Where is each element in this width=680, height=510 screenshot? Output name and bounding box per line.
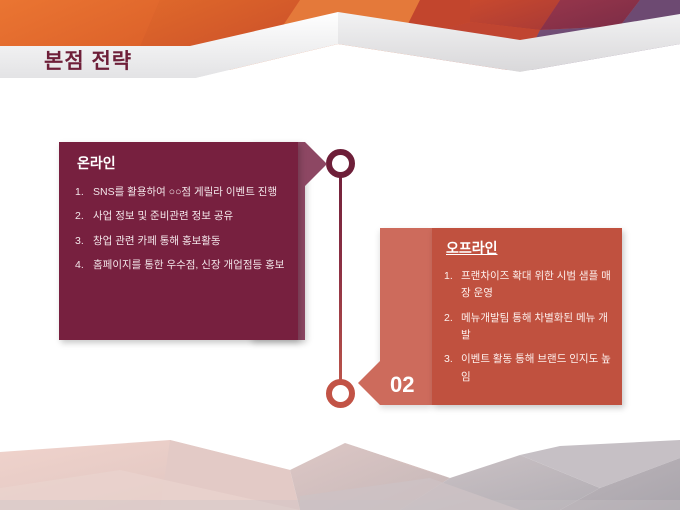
list-item: 4. 홈페이지를 통한 우수점, 신장 개업점등 홍보 (75, 257, 287, 274)
list-item: 1. 프랜차이즈 확대 위한 시범 샘플 매장 운영 (444, 268, 612, 303)
timeline-node-bottom-circle-icon (326, 379, 355, 408)
list-item-text: SNS를 활용하여 ○○점 게릴라 이벤트 진행 (93, 186, 277, 198)
list-item-text: 이벤트 활동 통해 브랜드 인지도 높임 (461, 353, 611, 382)
card-offline-heading: 오프라인 (446, 238, 498, 258)
card-offline-arrow-icon (358, 361, 380, 405)
list-item: 2. 사업 정보 및 준비관련 정보 공유 (75, 208, 287, 225)
list-item-number: 1. (75, 184, 84, 201)
list-item-number: 1. (444, 268, 453, 285)
card-online-list: 1. SNS를 활용하여 ○○점 게릴라 이벤트 진행 2. 사업 정보 및 준… (75, 184, 287, 281)
card-online-arrow-icon (305, 142, 327, 186)
timeline-node-top-circle-icon (326, 149, 355, 178)
list-item-text: 메뉴개발팀 통해 차별화된 메뉴 개발 (461, 312, 608, 341)
list-item-number: 3. (75, 233, 84, 250)
list-item-text: 프랜차이즈 확대 위한 시범 샘플 매장 운영 (461, 270, 611, 299)
timeline-connector-line (339, 160, 342, 396)
card-offline-list: 1. 프랜차이즈 확대 위한 시범 샘플 매장 운영 2. 메뉴개발팀 통해 차… (444, 268, 612, 393)
list-item: 2. 메뉴개발팀 통해 차별화된 메뉴 개발 (444, 310, 612, 345)
card-offline[interactable]: 오프라인 1. 프랜차이즈 확대 위한 시범 샘플 매장 운영 2. 메뉴개발팀… (432, 228, 622, 405)
list-item: 3. 이벤트 활동 통해 브랜드 인지도 높임 (444, 351, 612, 386)
slide-canvas: 본점 전략 01 온라인 1. SNS를 활용하여 ○○점 게릴라 이벤트 진행… (0, 0, 680, 510)
list-item-text: 홈페이지를 통한 우수점, 신장 개업점등 홍보 (93, 259, 284, 271)
list-item: 3. 창업 관련 카페 통해 홍보활동 (75, 233, 287, 250)
list-item-number: 2. (75, 208, 84, 225)
list-item-number: 4. (75, 257, 84, 274)
list-item-text: 사업 정보 및 준비관련 정보 공유 (93, 210, 233, 222)
card-online[interactable]: 온라인 1. SNS를 활용하여 ○○점 게릴라 이벤트 진행 2. 사업 정보… (59, 142, 298, 340)
list-item-text: 창업 관련 카페 통해 홍보활동 (93, 235, 221, 247)
list-item: 1. SNS를 활용하여 ○○점 게릴라 이벤트 진행 (75, 184, 287, 201)
list-item-number: 3. (444, 351, 453, 368)
card-online-heading: 온라인 (77, 153, 116, 173)
page-title: 본점 전략 (44, 45, 132, 75)
card-offline-number: 02 (390, 372, 414, 398)
list-item-number: 2. (444, 310, 453, 327)
